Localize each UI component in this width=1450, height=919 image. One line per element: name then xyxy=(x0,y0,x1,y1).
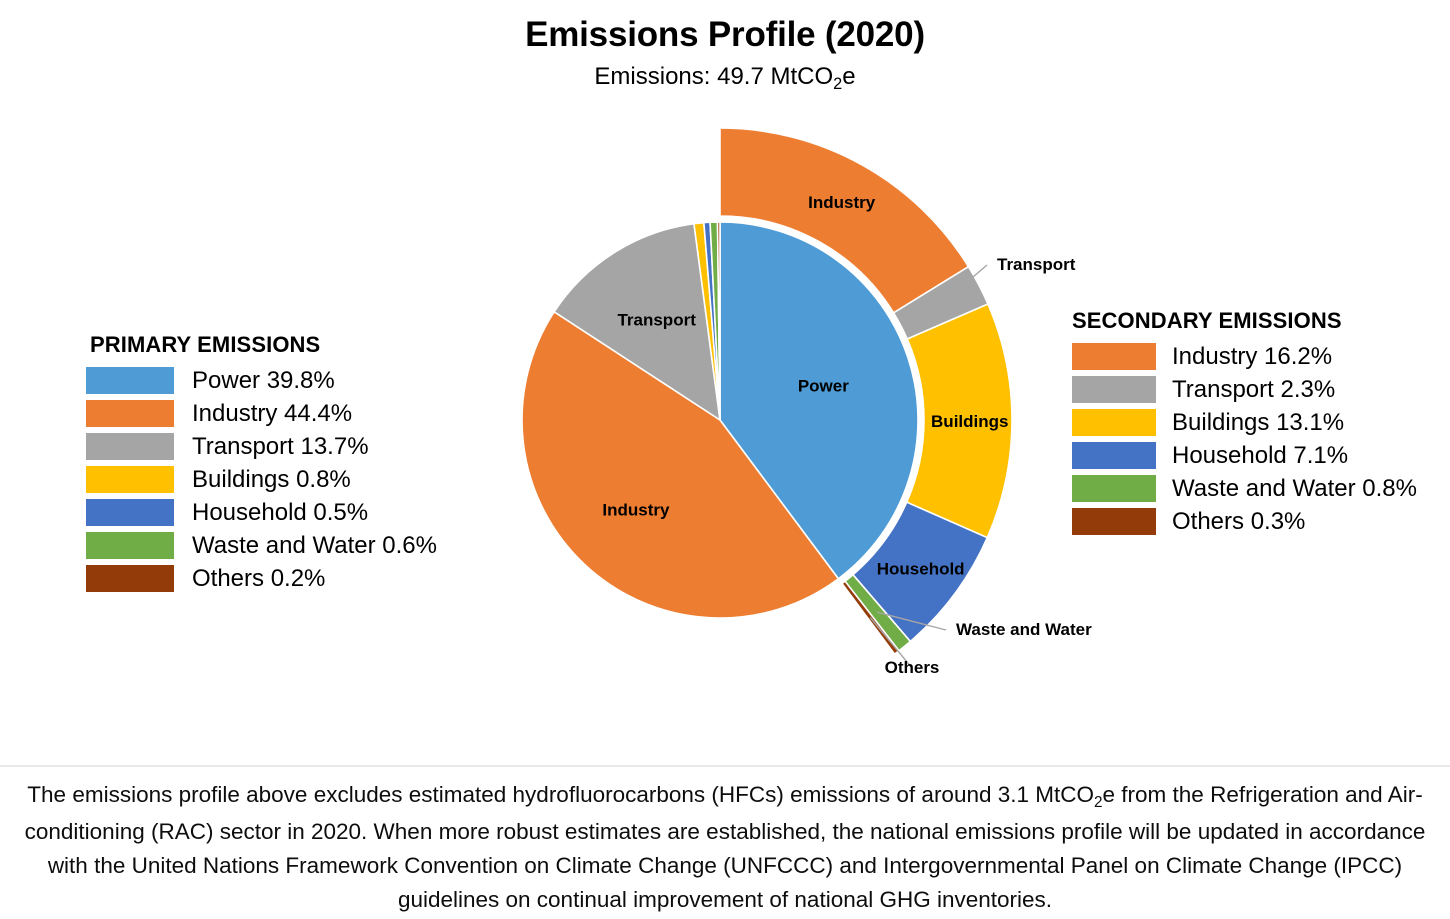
legend-label-secondary-transport: Transport 2.3% xyxy=(1172,378,1335,402)
chart-subtitle: Emissions: 49.7 MtCO2e xyxy=(0,64,1450,90)
legend-primary-title: PRIMARY EMISSIONS xyxy=(86,332,486,358)
subtitle-suffix: e xyxy=(842,63,855,90)
legend-secondary-items: Industry 16.2% Transport 2.3% Buildings … xyxy=(1072,340,1450,538)
callout-label-others: Others xyxy=(885,658,940,677)
slice-label-power: Power xyxy=(798,377,849,396)
ring-label-buildings: Buildings xyxy=(931,412,1008,431)
slice-label-industry: Industry xyxy=(602,500,670,519)
legend-item-industry[interactable]: Industry 44.4% xyxy=(86,397,486,430)
ring-label-industry: Industry xyxy=(808,193,876,212)
legend-label-transport: Transport 13.7% xyxy=(192,435,369,459)
callout-label-waste-and-water: Waste and Water xyxy=(956,620,1092,639)
legend-label-secondary-household: Household 7.1% xyxy=(1172,444,1348,468)
subtitle-prefix: Emissions: 49.7 MtCO xyxy=(594,63,833,90)
legend-swatch-household xyxy=(86,499,174,526)
legend-label-industry: Industry 44.4% xyxy=(192,402,352,426)
legend-item-secondary-waste-and-water[interactable]: Waste and Water 0.8% xyxy=(1072,472,1450,505)
footnote-prefix: The emissions profile above excludes est… xyxy=(27,782,1094,807)
pie-of-pie-chart: Power Industry Transport Industry Buildi… xyxy=(470,100,1110,700)
chart-title-text: Emissions Profile (2020) xyxy=(525,15,925,54)
legend-item-household[interactable]: Household 0.5% xyxy=(86,496,486,529)
legend-label-others: Others 0.2% xyxy=(192,567,325,591)
legend-item-secondary-household[interactable]: Household 7.1% xyxy=(1072,439,1450,472)
legend-label-secondary-buildings: Buildings 13.1% xyxy=(1172,411,1344,435)
legend-label-secondary-others: Others 0.3% xyxy=(1172,510,1305,534)
legend-item-secondary-others[interactable]: Others 0.3% xyxy=(1072,505,1450,538)
legend-primary-items: Power 39.8% Industry 44.4% Transport 13.… xyxy=(86,364,486,595)
legend-item-transport[interactable]: Transport 13.7% xyxy=(86,430,486,463)
legend-swatch-buildings xyxy=(86,466,174,493)
legend-swatch-transport xyxy=(86,433,174,460)
legend-item-buildings[interactable]: Buildings 0.8% xyxy=(86,463,486,496)
legend-label-buildings: Buildings 0.8% xyxy=(192,468,351,492)
legend-swatch-waste-and-water xyxy=(86,532,174,559)
legend-label-secondary-industry: Industry 16.2% xyxy=(1172,345,1332,369)
legend-item-waste-and-water[interactable]: Waste and Water 0.6% xyxy=(86,529,486,562)
legend-swatch-others xyxy=(86,565,174,592)
chart-area: PRIMARY EMISSIONS Power 39.8% Industry 4… xyxy=(0,100,1450,760)
legend-secondary-emissions: SECONDARY EMISSIONS Industry 16.2% Trans… xyxy=(1072,308,1450,538)
callout-label-transport: Transport xyxy=(997,255,1076,274)
footnote-text: The emissions profile above excludes est… xyxy=(0,778,1450,917)
legend-item-secondary-transport[interactable]: Transport 2.3% xyxy=(1072,373,1450,406)
page-title: Emissions Profile (2020) xyxy=(0,16,1450,55)
legend-primary-emissions: PRIMARY EMISSIONS Power 39.8% Industry 4… xyxy=(86,332,486,595)
footnote-divider xyxy=(0,765,1450,767)
legend-label-secondary-waste-and-water: Waste and Water 0.8% xyxy=(1172,477,1417,501)
ring-label-household: Household xyxy=(877,560,965,579)
legend-label-power: Power 39.8% xyxy=(192,369,335,393)
legend-label-household: Household 0.5% xyxy=(192,501,368,525)
legend-secondary-title: SECONDARY EMISSIONS xyxy=(1072,308,1450,334)
legend-item-others[interactable]: Others 0.2% xyxy=(86,562,486,595)
legend-label-waste-and-water: Waste and Water 0.6% xyxy=(192,534,437,558)
legend-item-power[interactable]: Power 39.8% xyxy=(86,364,486,397)
inner-pie-primary xyxy=(522,222,918,618)
subtitle-subscript: 2 xyxy=(833,75,842,93)
legend-swatch-industry xyxy=(86,400,174,427)
legend-item-secondary-buildings[interactable]: Buildings 13.1% xyxy=(1072,406,1450,439)
footnote-subscript: 2 xyxy=(1094,794,1103,811)
slice-label-transport: Transport xyxy=(617,310,696,329)
legend-swatch-power xyxy=(86,367,174,394)
legend-item-secondary-industry[interactable]: Industry 16.2% xyxy=(1072,340,1450,373)
